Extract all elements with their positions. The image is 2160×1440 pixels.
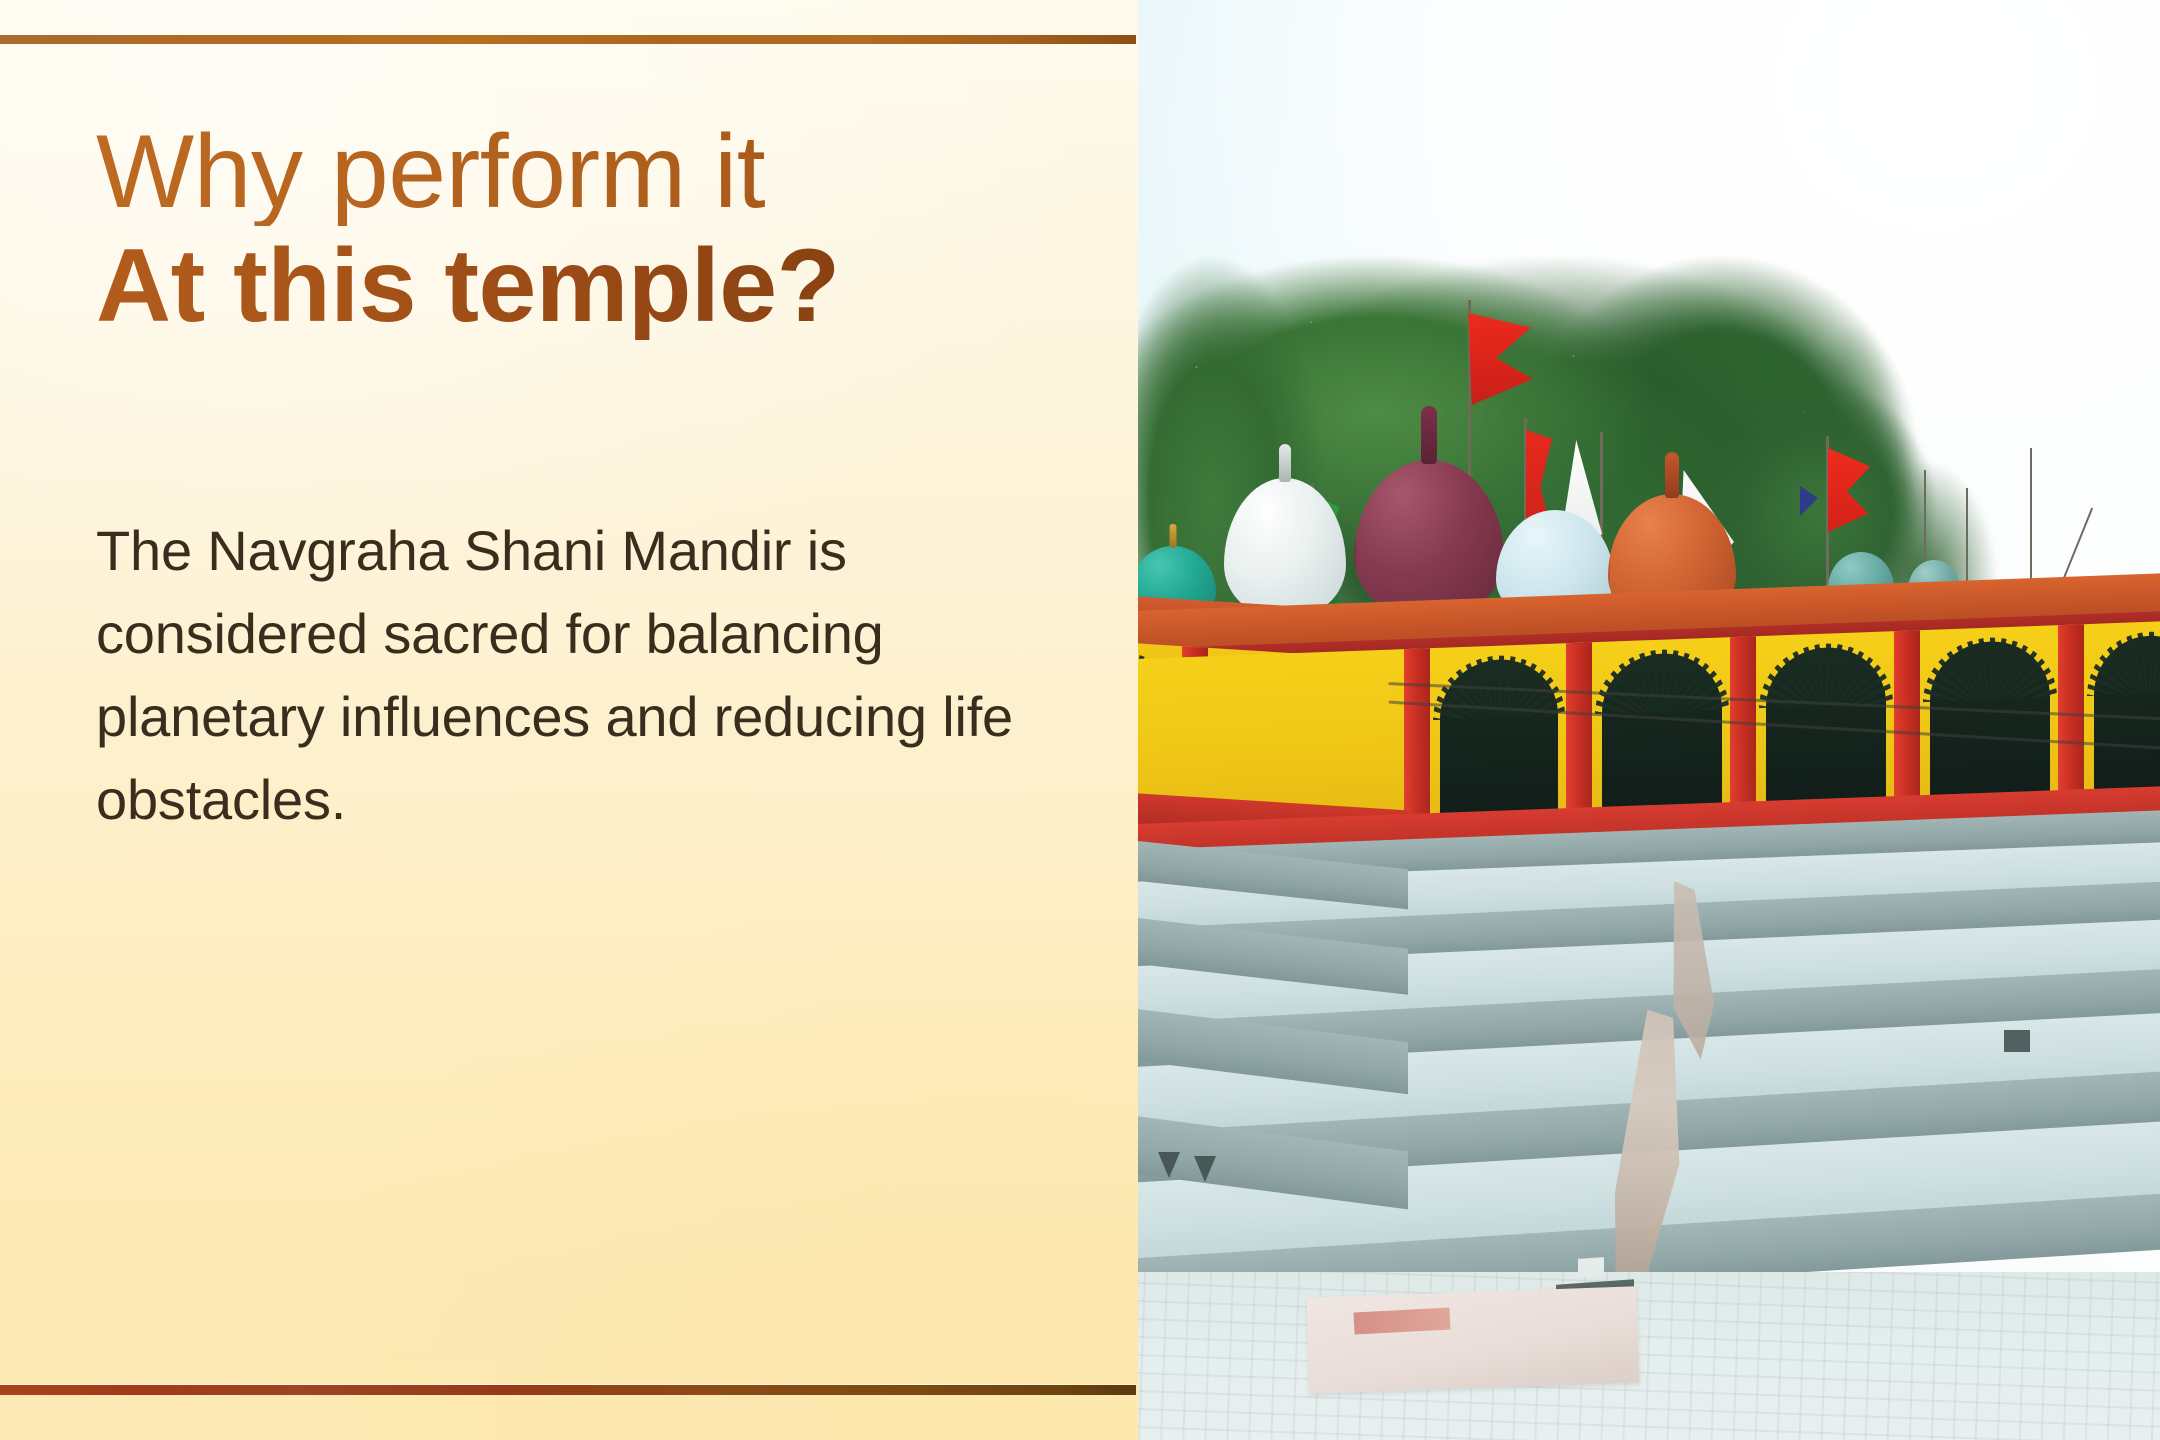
white-dome-bulb [1224,478,1346,618]
temple-pillar-1 [1404,648,1430,831]
floor-mat [1306,1286,1639,1393]
white-dome-finial [1279,444,1291,482]
slide-root: Why perform it At this temple? The Navgr… [0,0,2160,1440]
temple-arch-1 [1440,657,1558,829]
top-divider-rule [0,35,1136,44]
maroon-dome-bulb [1354,460,1504,618]
temple-pillar-2 [1566,642,1592,825]
text-panel: Why perform it At this temple? The Navgr… [0,0,1138,1440]
temple-photo [1138,0,2160,1440]
small-stone [1578,1257,1604,1277]
body-paragraph: The Navgraha Shani Mandir is considered … [96,510,1086,842]
temple-pillar-3 [1730,636,1756,819]
bottom-divider-rule [0,1385,1136,1395]
temple-arch-4 [1930,639,2050,811]
page-title: Why perform it At this temple? [96,118,1056,340]
headline-line-2: At this temple? [96,232,1056,340]
orange-dome-finial [1665,452,1679,498]
headline-line-1: Why perform it [96,118,1056,226]
temple-arch-5 [2094,634,2160,806]
step-notch-3 [2004,1030,2030,1052]
teal-dome-finial [1170,524,1177,548]
maroon-dome [1354,460,1504,618]
maroon-dome-finial [1421,406,1437,464]
paved-courtyard [1138,1272,2160,1440]
temple-pillar-4 [1894,630,1920,813]
white-dome [1224,478,1346,618]
temple-arch-2 [1602,651,1722,823]
